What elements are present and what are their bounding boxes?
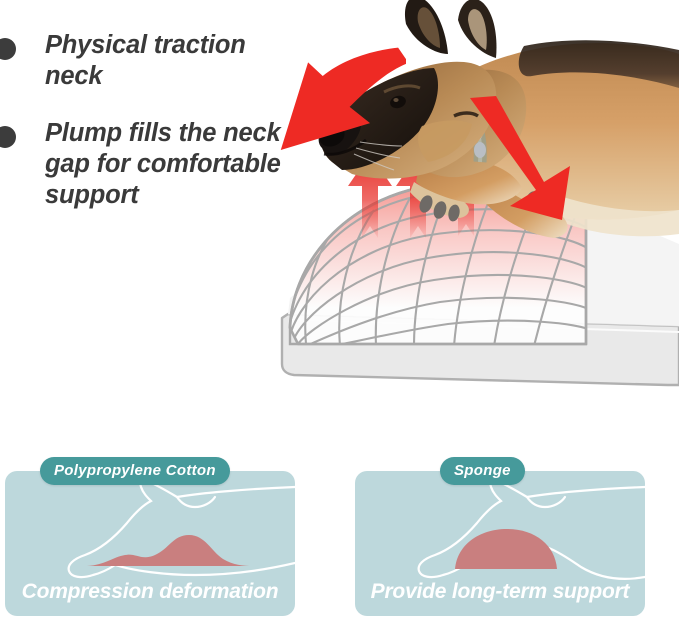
product-infographic: Physical traction neck Plump fills the n… <box>0 0 679 624</box>
bullet-dot-icon <box>0 38 16 60</box>
material-card-sponge: Sponge Provide long-term support <box>355 471 645 616</box>
curved-arrow-down-left-icon <box>276 38 406 168</box>
straight-arrow-down-right-icon <box>466 96 596 226</box>
dog-ears <box>405 0 497 58</box>
material-caption: Compression deformation <box>5 580 295 604</box>
feature-hero-section: Physical traction neck Plump fills the n… <box>0 0 679 420</box>
material-card-polypropylene: Polypropylene Cotton Compression deforma… <box>5 471 295 616</box>
bullet-dot-icon <box>0 126 16 148</box>
material-badge: Sponge <box>440 457 525 485</box>
material-comparison-row: Polypropylene Cotton Compression deforma… <box>0 455 679 624</box>
feature-bullet-text: Physical traction neck <box>45 30 307 92</box>
material-caption: Provide long-term support <box>355 580 645 604</box>
material-badge: Polypropylene Cotton <box>40 457 230 485</box>
